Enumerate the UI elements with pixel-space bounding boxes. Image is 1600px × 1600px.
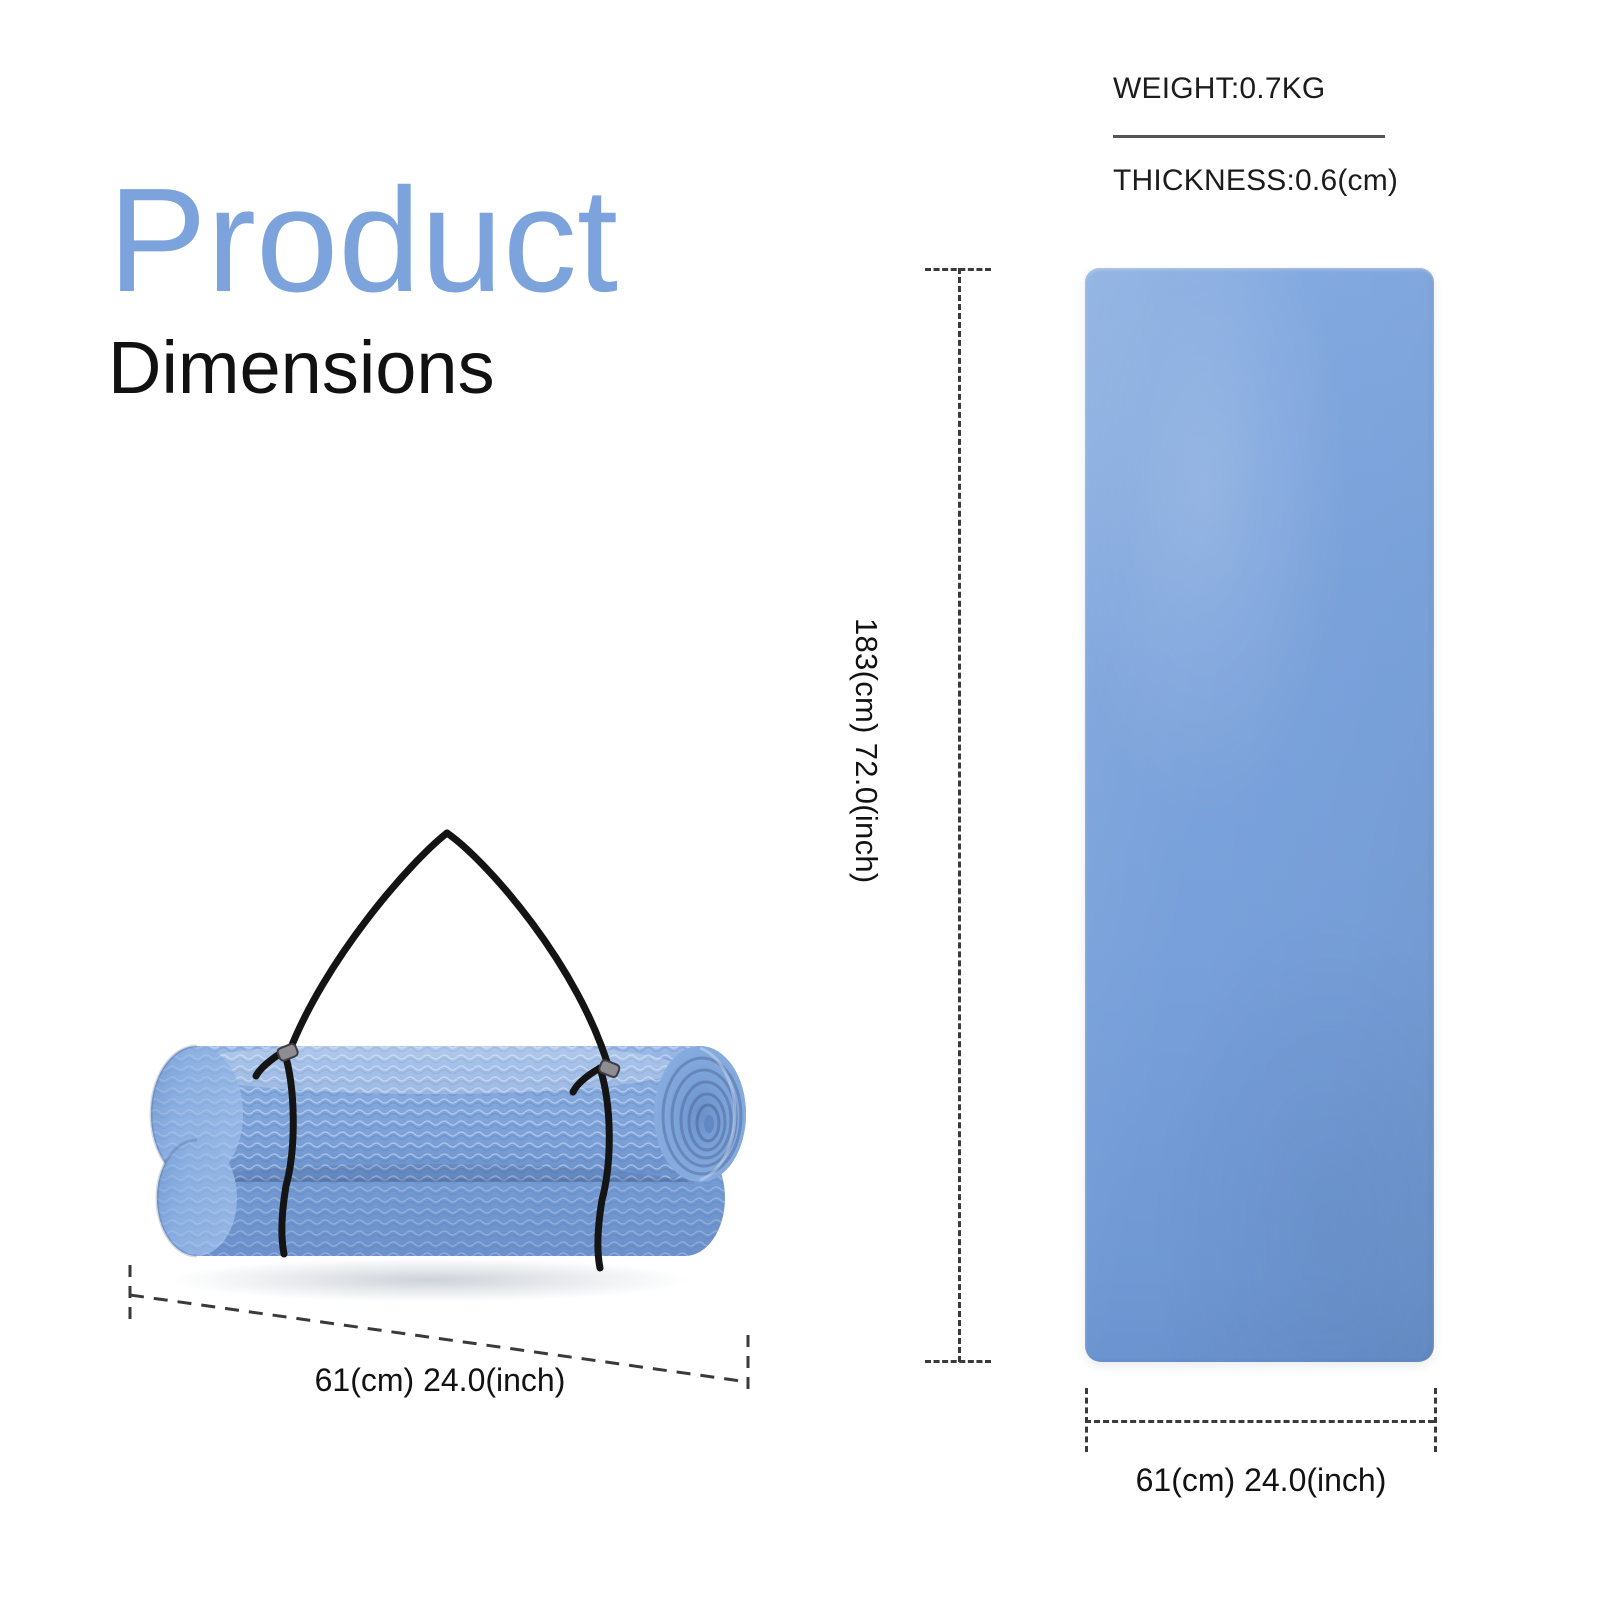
flat-width-measure-line: [1085, 1420, 1434, 1423]
yoga-mat-flat-unrolled: [1085, 268, 1434, 1362]
spec-thickness: THICKNESS:0.6(cm): [1113, 164, 1413, 198]
height-measure-tick-top: [925, 268, 991, 271]
mat-roll-left-cap: [151, 1046, 243, 1256]
mat-shoulder-strap: [288, 833, 610, 1072]
page-title: Product Dimensions: [108, 168, 868, 405]
height-measure-tick-bottom: [925, 1360, 991, 1363]
flat-width-measure-tick-left: [1085, 1388, 1088, 1452]
yoga-mat-rolled-with-strap: [100, 810, 800, 1310]
mat-surface-sheen: [1085, 268, 1434, 1362]
page-title-primary: Product: [108, 168, 868, 313]
height-measure-label: 183(cm) 72.0(inch): [848, 618, 884, 666]
spec-block: WEIGHT:0.7KG THICKNESS:0.6(cm): [1113, 72, 1413, 198]
height-measure-line: [958, 268, 961, 1362]
flat-width-measure-tick-right: [1434, 1388, 1437, 1452]
mat-roll-coil-end: [654, 1046, 746, 1182]
flat-width-measure-label: 61(cm) 24.0(inch): [1085, 1462, 1437, 1499]
rolled-width-measure-label: 61(cm) 24.0(inch): [130, 1362, 750, 1399]
page-title-secondary: Dimensions: [108, 331, 868, 405]
spec-divider: [1113, 135, 1385, 138]
spec-weight: WEIGHT:0.7KG: [1113, 72, 1413, 106]
